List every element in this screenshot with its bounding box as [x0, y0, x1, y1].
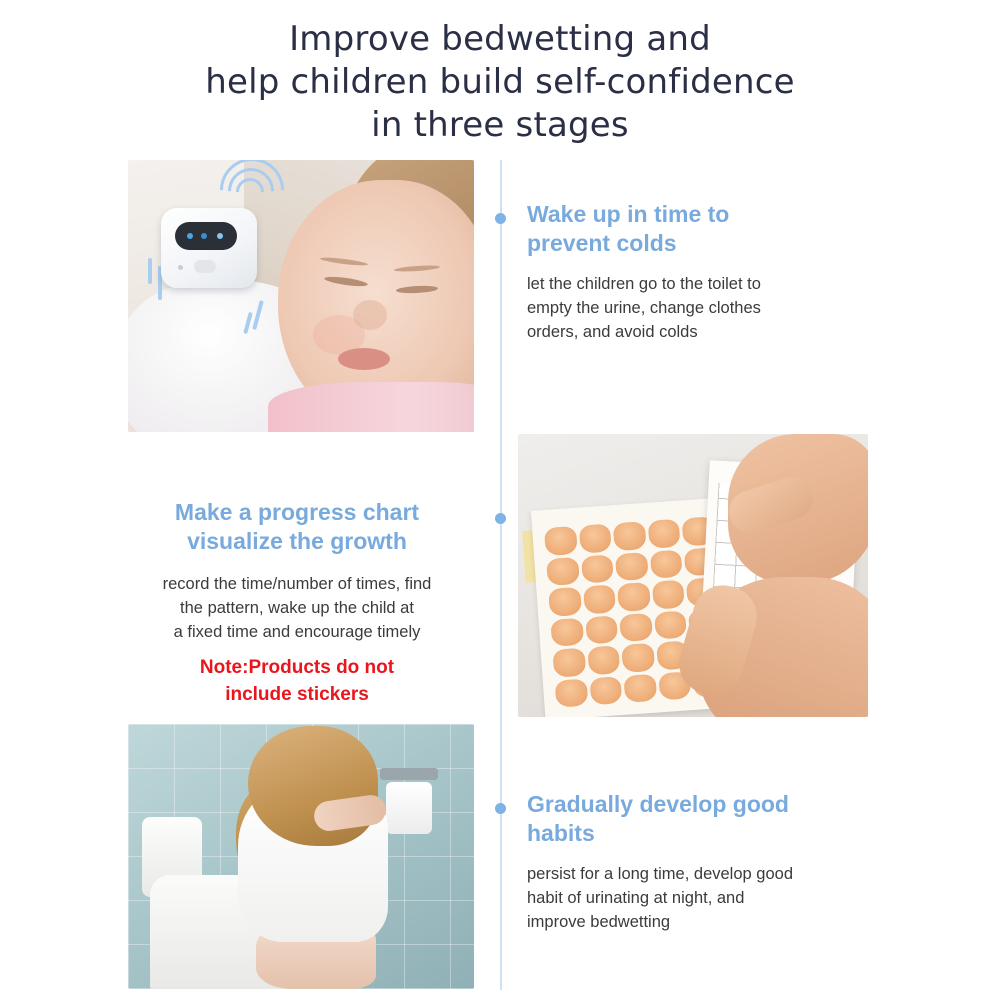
stage-2-note: Note:Products do not include stickers	[118, 654, 476, 708]
stage-2-text: Make a progress chart visualize the grow…	[118, 498, 476, 708]
timeline-dot-stage-1	[495, 213, 506, 224]
page-title-line-3: in three stages	[0, 104, 1000, 147]
photo1-pyjama	[268, 382, 474, 432]
timeline-line	[500, 160, 502, 990]
stage-1-text: Wake up in time to prevent colds let the…	[527, 200, 887, 344]
stage-3-text: Gradually develop good habits persist fo…	[527, 790, 887, 934]
device-screen	[175, 222, 237, 250]
photo3-child-hair	[248, 726, 378, 846]
stage-2-photo	[518, 434, 868, 717]
stage-2-body: record the time/number of times, find th…	[118, 572, 476, 644]
stage-3-body: persist for a long time, develop good ha…	[527, 862, 887, 934]
timeline-dot-stage-2	[495, 513, 506, 524]
page-title: Improve bedwetting and help children bui…	[0, 18, 1000, 147]
timeline-dot-stage-3	[495, 803, 506, 814]
bedwetting-alarm-device	[161, 208, 257, 288]
photo1-nose	[353, 300, 387, 330]
device-led-icon	[187, 233, 193, 239]
stage-1-photo	[128, 160, 474, 432]
device-led-icon	[201, 233, 207, 239]
stage-3-title: Gradually develop good habits	[527, 790, 887, 848]
stage-1-body: let the children go to the toilet to emp…	[527, 272, 887, 344]
stage-3-photo	[128, 724, 474, 989]
page-title-line-1: Improve bedwetting and	[0, 18, 1000, 61]
photo3-toilet-paper-roll	[386, 782, 432, 834]
device-speaker-hole	[178, 265, 183, 270]
photo3-paper-holder	[380, 768, 438, 780]
infographic-page: Improve bedwetting and help children bui…	[0, 0, 1000, 1000]
vibration-icon	[148, 258, 152, 284]
device-led-icon	[217, 233, 223, 239]
stage-1-title: Wake up in time to prevent colds	[527, 200, 887, 258]
page-title-line-2: help children build self-confidence	[0, 61, 1000, 104]
device-button	[194, 260, 216, 273]
stage-2-title: Make a progress chart visualize the grow…	[118, 498, 476, 556]
photo1-mouth	[338, 348, 390, 370]
